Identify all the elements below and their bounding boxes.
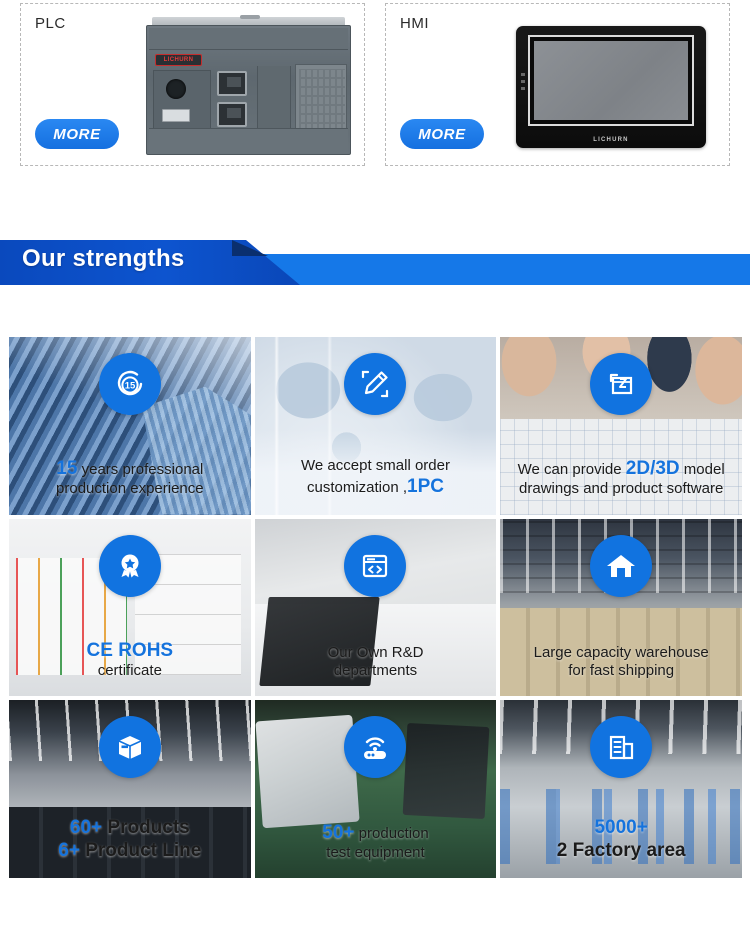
- strength-caption: CE ROHS certificate: [15, 639, 245, 680]
- section-title: Our strengths: [22, 245, 185, 273]
- strength-cell-drawings[interactable]: We can provide 2D/3D model drawings and …: [500, 337, 742, 515]
- award-medal-icon: [99, 535, 161, 597]
- hmi-status-leds: [521, 73, 525, 94]
- caption-part: 2 Factory area: [557, 840, 686, 861]
- caption-part: test equipment: [326, 844, 424, 861]
- hmi-brand-logo: LICHURN: [516, 137, 706, 143]
- caption-part: We accept small order: [301, 457, 450, 474]
- caption-part: for fast shipping: [568, 662, 674, 679]
- router-signal-icon: [344, 716, 406, 778]
- caption-part: customization ,: [307, 479, 407, 496]
- strength-caption: We accept small order customization ,1PC: [261, 457, 491, 498]
- plc-top-nub: [240, 15, 260, 19]
- plc-lower-strip: [149, 128, 348, 152]
- strengths-grid: 15 15 years professional production expe…: [9, 337, 742, 878]
- strength-cell-certificate[interactable]: CE ROHS certificate: [9, 519, 251, 697]
- plc-ethernet-panel: [215, 70, 253, 130]
- caption-part: 15: [56, 458, 77, 479]
- code-window-icon: [344, 535, 406, 597]
- strength-cell-rnd[interactable]: Our Own R&D departments: [255, 519, 497, 697]
- caption-part: Our Own R&D: [328, 644, 424, 661]
- hmi-device-image: LICHURN: [516, 26, 706, 148]
- plc-device-image: LICHURN: [146, 17, 351, 155]
- caption-part: 1PC: [407, 476, 444, 497]
- warehouse-house-icon: [590, 535, 652, 597]
- clock-15-years-icon: 15: [99, 353, 161, 415]
- caption-part: 2D/3D: [626, 458, 680, 479]
- plc-led-array: [299, 69, 345, 133]
- strength-caption: 50+ production test equipment: [261, 821, 491, 862]
- plc-usb-port: [162, 109, 190, 122]
- caption-part: model: [680, 461, 725, 478]
- hmi-screen: [534, 41, 688, 120]
- plc-rj45-port-2: [217, 102, 247, 127]
- caption-part: 6+: [58, 840, 80, 861]
- strength-cell-warehouse[interactable]: Large capacity warehouse for fast shippi…: [500, 519, 742, 697]
- product-card-label-hmi: HMI: [400, 15, 429, 32]
- product-cards-row: PLC LICHURN: [0, 0, 750, 180]
- product-card-label-plc: PLC: [35, 15, 66, 32]
- caption-part: years professional: [77, 461, 203, 478]
- caption-part: 50+: [322, 822, 354, 843]
- caption-part: Product Line: [80, 840, 201, 861]
- product-card-hmi[interactable]: HMI LICHURN MORE: [385, 3, 730, 166]
- caption-part: departments: [334, 662, 417, 679]
- more-button-hmi[interactable]: MORE: [400, 119, 484, 149]
- strength-caption: Large capacity warehouse for fast shippi…: [506, 644, 736, 681]
- plc-port-panel-left: [153, 70, 211, 130]
- strength-cell-factory-area[interactable]: 5000+ 2 Factory area: [500, 700, 742, 878]
- caption-part: Large capacity warehouse: [534, 644, 709, 661]
- strength-caption: 15 years professional production experie…: [15, 457, 245, 498]
- package-box-icon: [99, 716, 161, 778]
- plc-upper-strip: [149, 28, 348, 50]
- section-banner: Our strengths: [0, 238, 750, 288]
- plc-brand-logo: LICHURN: [155, 54, 202, 66]
- caption-part: production: [355, 825, 429, 842]
- caption-part: certificate: [98, 662, 162, 679]
- strength-cell-test-equipment[interactable]: 50+ production test equipment: [255, 700, 497, 878]
- plc-terminal-panel: [295, 64, 347, 136]
- strength-cell-customization[interactable]: We accept small order customization ,1PC: [255, 337, 497, 515]
- strength-caption: We can provide 2D/3D model drawings and …: [506, 457, 736, 498]
- plc-round-port: [166, 79, 186, 99]
- cad-drawing-icon: [590, 353, 652, 415]
- strength-cell-years[interactable]: 15 15 years professional production expe…: [9, 337, 251, 515]
- pencil-customization-icon: [344, 353, 406, 415]
- plc-body: LICHURN: [146, 25, 351, 155]
- page-root: PLC LICHURN: [0, 0, 750, 925]
- caption-part: Products: [102, 817, 190, 838]
- caption-part: drawings and product software: [519, 480, 723, 497]
- product-card-plc[interactable]: PLC LICHURN: [20, 3, 365, 166]
- caption-part: 60+: [70, 817, 102, 838]
- strength-caption: Our Own R&D departments: [261, 644, 491, 681]
- more-button-plc[interactable]: MORE: [35, 119, 119, 149]
- plc-rj45-port-1: [217, 71, 247, 96]
- caption-part: CE ROHS: [87, 640, 174, 661]
- caption-part: We can provide: [518, 461, 626, 478]
- plc-center-panel: [257, 66, 291, 134]
- caption-part: production experience: [56, 480, 204, 497]
- caption-part: 5000+: [594, 817, 647, 838]
- strength-cell-products[interactable]: 60+ Products 6+ Product Line: [9, 700, 251, 878]
- svg-text:15: 15: [125, 381, 136, 392]
- factory-building-icon: [590, 716, 652, 778]
- strength-caption: 5000+ 2 Factory area: [506, 816, 736, 862]
- hmi-bezel: [528, 35, 694, 126]
- strength-caption: 60+ Products 6+ Product Line: [15, 816, 245, 862]
